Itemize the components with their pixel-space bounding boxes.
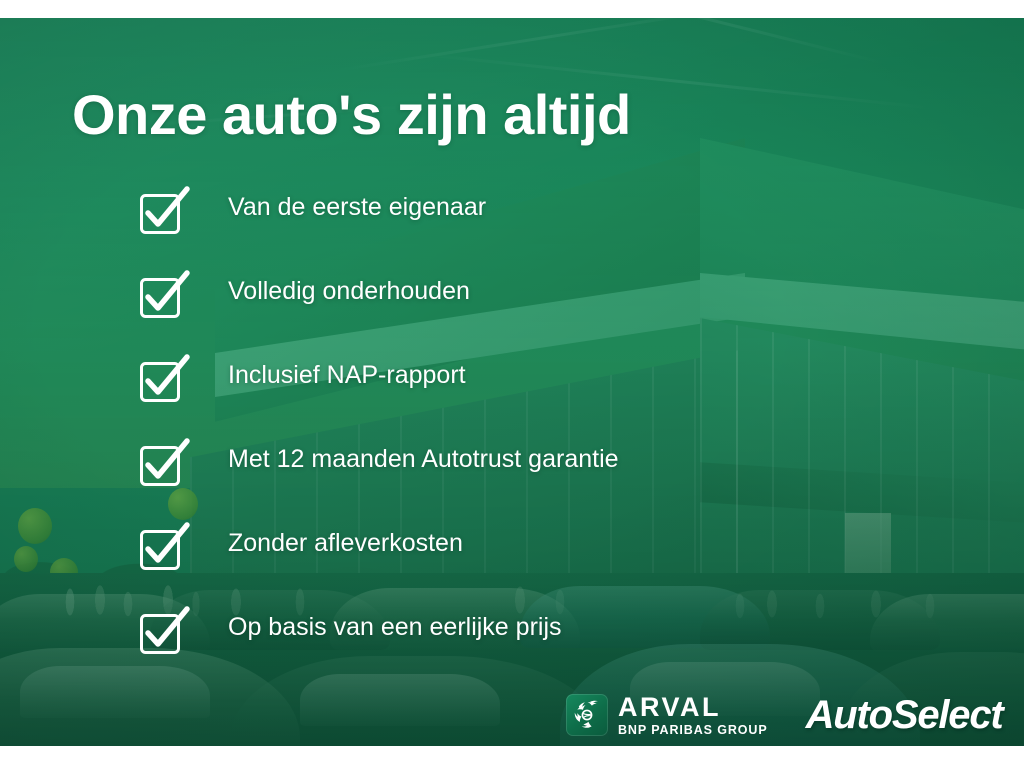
checklist-item-label: Zonder afleverkosten xyxy=(228,529,463,558)
checkbox-checked-icon xyxy=(138,438,190,490)
checklist-item-label: Inclusief NAP-rapport xyxy=(228,361,466,390)
checkbox-checked-icon xyxy=(138,354,190,406)
checklist-item-label: Op basis van een eerlijke prijs xyxy=(228,613,562,642)
autoselect-logo: AutoSelect xyxy=(806,695,1003,735)
checklist-item-label: Volledig onderhouden xyxy=(228,277,470,306)
checklist-item: Op basis van een eerlijke prijs xyxy=(138,604,958,688)
hero-banner: Onze auto's zijn altijd Van de eerste ei… xyxy=(0,18,1024,746)
headline: Onze auto's zijn altijd xyxy=(72,82,631,147)
checkbox-checked-icon xyxy=(138,522,190,574)
arval-wordmark: ARVAL BNP PARIBAS GROUP xyxy=(618,694,768,737)
logo-strip: ARVAL BNP PARIBAS GROUP AutoSelect xyxy=(566,694,1003,737)
benefits-checklist: Van de eerste eigenaar Volledig onderhou… xyxy=(138,184,958,688)
checklist-item: Van de eerste eigenaar xyxy=(138,184,958,268)
checklist-item: Zonder afleverkosten xyxy=(138,520,958,604)
checklist-item: Volledig onderhouden xyxy=(138,268,958,352)
checkbox-checked-icon xyxy=(138,270,190,322)
arval-tagline: BNP PARIBAS GROUP xyxy=(618,724,768,737)
slide: Onze auto's zijn altijd Van de eerste ei… xyxy=(0,0,1024,768)
checkbox-checked-icon xyxy=(138,606,190,658)
checklist-item: Met 12 maanden Autotrust garantie xyxy=(138,436,958,520)
checklist-item-label: Van de eerste eigenaar xyxy=(228,193,486,222)
banner-content: Onze auto's zijn altijd Van de eerste ei… xyxy=(0,18,1024,746)
checklist-item-label: Met 12 maanden Autotrust garantie xyxy=(228,445,619,474)
arval-logo: ARVAL BNP PARIBAS GROUP xyxy=(566,694,768,737)
arval-name: ARVAL xyxy=(618,692,721,722)
checkbox-checked-icon xyxy=(138,186,190,238)
checklist-item: Inclusief NAP-rapport xyxy=(138,352,958,436)
bnp-paribas-stars-icon xyxy=(566,694,608,736)
